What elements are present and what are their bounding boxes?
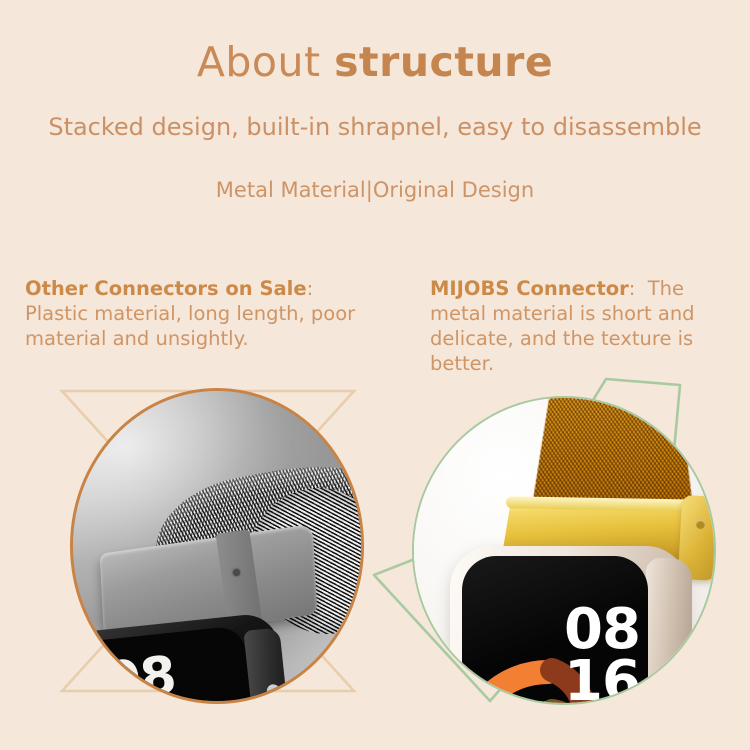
subtitle-secondary: Metal Material|Original Design [0,178,750,202]
right-watch-time: 08 16 [564,604,640,705]
right-watch-minute: 16 [564,656,640,705]
subtitle-primary: Stacked design, built-in shrapnel, easy … [0,113,750,141]
page-title-regular: About [197,38,334,86]
left-product-photo: 08 [70,388,364,704]
left-colon: : [307,277,314,300]
right-heading: MIJOBS Connector [430,277,629,300]
left-body: Plastic material, long length, poor mate… [25,302,355,350]
white-watch-side [646,558,692,705]
connector-pin [233,569,240,576]
page-title: About structure [0,38,750,86]
right-description: MIJOBS Connector: The metal material is … [430,276,745,376]
promo-page: About structure Stacked design, built-in… [0,0,750,750]
metal-connector-screw [696,520,705,529]
page-title-bold: structure [334,38,553,86]
left-watch-time: 08 [102,645,178,704]
gold-watch-scene: 08 16 [414,398,714,703]
left-heading: Other Connectors on Sale [25,277,307,300]
left-description: Other Connectors on Sale: Plastic materi… [25,276,375,351]
right-colon: : [629,277,636,300]
right-product-photo: 08 16 [412,396,716,705]
silver-watch-scene: 08 [73,391,361,701]
